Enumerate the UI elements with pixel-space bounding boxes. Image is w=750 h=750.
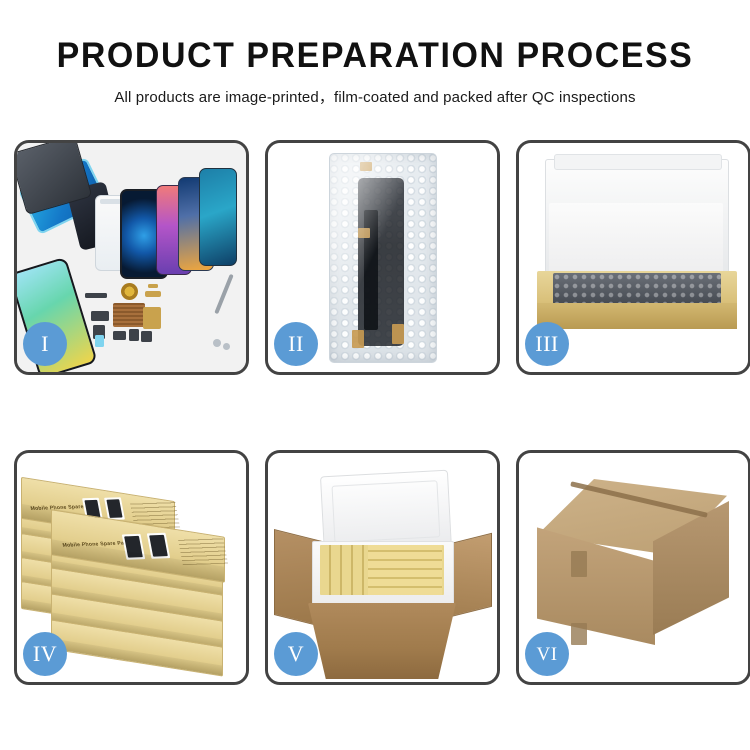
step-badge-3: III	[525, 322, 569, 366]
kraft-box-front-face	[537, 303, 737, 329]
gold-contact-part	[148, 284, 158, 288]
step-badge-5: V	[274, 632, 318, 676]
step-badge-1: I	[23, 322, 67, 366]
carton-body	[308, 603, 456, 679]
teal-wave-phone	[199, 168, 237, 266]
page-title: PRODUCT PREPARATION PROCESS	[11, 38, 739, 73]
small-part	[113, 331, 126, 340]
step-badge-6: VI	[525, 632, 569, 676]
battery-part	[95, 335, 104, 347]
bubble-wrapped-items	[553, 273, 721, 307]
flex-cable-part	[145, 291, 161, 297]
process-step-panel-4: Mobile Phone Spare Parts Mobile Phone Sp…	[14, 450, 249, 685]
process-step-panel-6: VI	[516, 450, 750, 685]
process-step-panel-5: V	[265, 450, 500, 685]
tape-piece	[360, 162, 372, 171]
process-step-panel-3: III	[516, 140, 750, 375]
small-part	[129, 329, 139, 341]
box-window	[104, 497, 125, 520]
small-part	[91, 311, 109, 321]
tape-patch	[571, 551, 587, 577]
foam-sheet	[549, 203, 723, 279]
tape-piece	[352, 330, 364, 348]
tweezers-icon	[214, 274, 233, 314]
process-step-grid: I II	[14, 140, 736, 685]
tape-patch	[571, 623, 587, 645]
flex-cable-part	[143, 307, 161, 329]
step-badge-2: II	[274, 322, 318, 366]
logic-board-part	[113, 303, 145, 327]
tape-piece	[392, 324, 404, 344]
page-subtitle: All products are image-printed，film-coat…	[0, 86, 750, 107]
packed-retail-boxes	[368, 545, 442, 595]
screw-part	[213, 339, 221, 347]
camera-module-part	[141, 331, 152, 342]
process-step-panel-1: I	[14, 140, 249, 375]
screw-part	[223, 343, 230, 350]
speaker-part	[121, 283, 138, 300]
tape-piece	[358, 228, 370, 238]
bubble-wrap-bag	[329, 153, 437, 363]
step-badge-4: IV	[23, 632, 67, 676]
header: PRODUCT PREPARATION PROCESS All products…	[0, 0, 750, 107]
process-step-panel-2: II	[265, 140, 500, 375]
small-part	[85, 293, 107, 298]
infographic-page: PRODUCT PREPARATION PROCESS All products…	[0, 0, 750, 750]
